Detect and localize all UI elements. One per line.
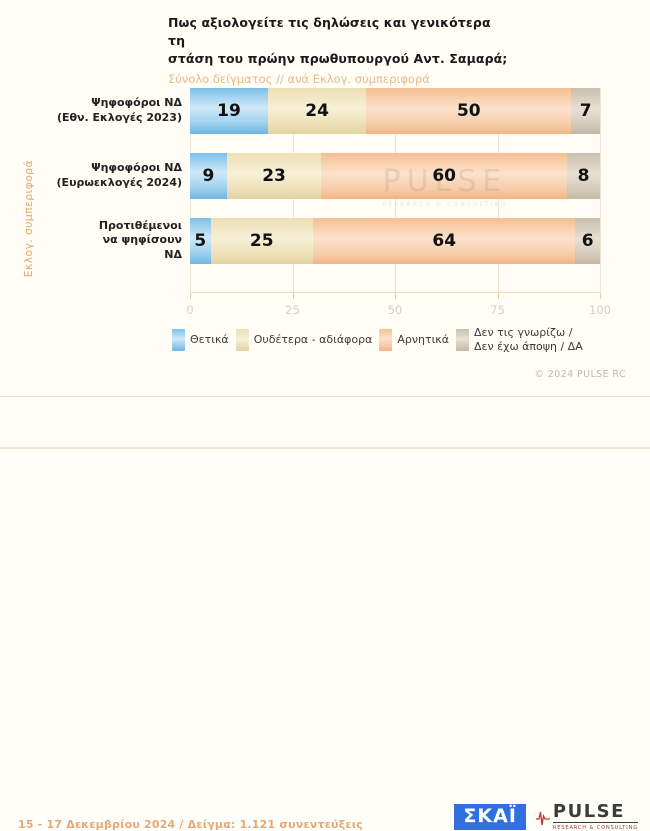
category-label-line: ΝΔ xyxy=(99,248,182,263)
copyright-text: © 2024 PULSE RC xyxy=(534,369,626,380)
poll-chart-card: PULSE RESEARCH & CONSULTING Πως αξιολογε… xyxy=(0,0,650,449)
bar-segment-neg: 60 xyxy=(321,153,567,199)
bar-segment-neu: 25 xyxy=(211,218,314,264)
legend-swatch-dk xyxy=(456,329,469,351)
legend-swatch-neu xyxy=(236,329,249,351)
bar-segment-dk: 8 xyxy=(567,153,600,199)
footer-bar: 15 - 17 Δεκεμβρίου 2024 / Δείγμα: 1.121 … xyxy=(0,397,650,449)
bar-segment-pos: 5 xyxy=(190,218,211,264)
x-axis-tick-label: 0 xyxy=(186,303,193,317)
category-label: Προτιθέμενοινα ψηφίσουνΝΔ xyxy=(99,219,182,264)
bar-segment-pos: 9 xyxy=(190,153,227,199)
y-axis-group-label: Εκλογ. συμπεριφορά xyxy=(22,160,35,277)
bar-segment-pos: 19 xyxy=(190,88,268,134)
bar-segment-neg: 64 xyxy=(313,218,575,264)
legend-label-line: Δεν τις γνωρίζω / xyxy=(474,326,583,340)
chart-legend: ΘετικάΟυδέτερα - αδιάφοραΑρνητικάΔεν τις… xyxy=(172,326,583,354)
x-axis-tick-label: 50 xyxy=(388,303,403,317)
bar-segment-dk: 6 xyxy=(575,218,600,264)
skai-logo: ΣΚΑΪ xyxy=(454,804,525,830)
bar-row: 923608 xyxy=(190,153,600,199)
pulse-logo-sub: RESEARCH & CONSULTING xyxy=(553,825,638,831)
x-axis-tick xyxy=(600,293,601,299)
legend-item-neg[interactable]: Αρνητικά xyxy=(379,329,449,351)
x-axis-tick-label: 25 xyxy=(285,303,300,317)
legend-label-line: Δεν έχω άποψη / ΔΑ xyxy=(474,340,583,354)
footer-dates-sample: 15 - 17 Δεκεμβρίου 2024 / Δείγμα: 1.121 … xyxy=(18,818,363,831)
category-label: Ψηφοφόροι ΝΔ(Εθν. Εκλογές 2023) xyxy=(57,96,182,126)
category-label-line: (Εθν. Εκλογές 2023) xyxy=(57,111,182,126)
legend-swatch-pos xyxy=(172,329,185,351)
chart-plot-area: 02550751001924507923608525646 xyxy=(190,88,600,293)
category-label-line: Ψηφοφόροι ΝΔ xyxy=(57,161,182,176)
bar-row: 1924507 xyxy=(190,88,600,134)
page-title-line-1: Πως αξιολογείτε τις δηλώσεις και γενικότ… xyxy=(168,14,508,50)
category-label-column: Ψηφοφόροι ΝΔ(Εθν. Εκλογές 2023)Ψηφοφόροι… xyxy=(40,88,182,293)
category-label-line: να ψηφίσουν xyxy=(99,233,182,248)
x-axis-tick xyxy=(395,293,396,299)
legend-item-dk[interactable]: Δεν τις γνωρίζω /Δεν έχω άποψη / ΔΑ xyxy=(456,326,583,354)
pulse-logo-text: PULSE RESEARCH & CONSULTING xyxy=(553,803,638,831)
legend-label: Αρνητικά xyxy=(397,333,449,347)
x-axis-tick-label: 75 xyxy=(490,303,505,317)
bar-segment-neg: 50 xyxy=(366,88,571,134)
x-axis-tick xyxy=(498,293,499,299)
x-axis-tick xyxy=(293,293,294,299)
legend-label-line: Θετικά xyxy=(190,333,229,347)
pulse-wave-icon xyxy=(536,806,550,828)
footer-logos: ΣΚΑΪ PULSE RESEARCH & CONSULTING xyxy=(454,803,638,831)
legend-swatch-neg xyxy=(379,329,392,351)
page-title-line-2: στάση του πρώην πρωθυπουργού Αντ. Σαμαρά… xyxy=(168,50,508,68)
x-gridline xyxy=(600,88,601,293)
pulse-logo-main: PULSE xyxy=(553,803,638,823)
bar-segment-neu: 23 xyxy=(227,153,321,199)
legend-label-line: Αρνητικά xyxy=(397,333,449,347)
legend-label: Ουδέτερα - αδιάφορα xyxy=(254,333,373,347)
category-label-line: Ψηφοφόροι ΝΔ xyxy=(57,96,182,111)
chart-subtitle: Σύνολο δείγματος // ανά Εκλογ. συμπεριφο… xyxy=(168,72,508,87)
category-label-line: (Ευρωεκλογές 2024) xyxy=(57,176,182,191)
legend-item-neu[interactable]: Ουδέτερα - αδιάφορα xyxy=(236,329,373,351)
bar-segment-neu: 24 xyxy=(268,88,366,134)
category-label-line: Προτιθέμενοι xyxy=(99,219,182,234)
legend-label: Δεν τις γνωρίζω /Δεν έχω άποψη / ΔΑ xyxy=(474,326,583,354)
bar-segment-dk: 7 xyxy=(571,88,600,134)
legend-item-pos[interactable]: Θετικά xyxy=(172,329,229,351)
legend-label-line: Ουδέτερα - αδιάφορα xyxy=(254,333,373,347)
chart-title-block: Πως αξιολογείτε τις δηλώσεις και γενικότ… xyxy=(168,14,508,87)
x-axis-tick-label: 100 xyxy=(589,303,611,317)
category-label: Ψηφοφόροι ΝΔ(Ευρωεκλογές 2024) xyxy=(57,161,182,191)
bar-row: 525646 xyxy=(190,218,600,264)
legend-label: Θετικά xyxy=(190,333,229,347)
pulse-logo: PULSE RESEARCH & CONSULTING xyxy=(536,803,638,831)
x-axis-tick xyxy=(190,293,191,299)
